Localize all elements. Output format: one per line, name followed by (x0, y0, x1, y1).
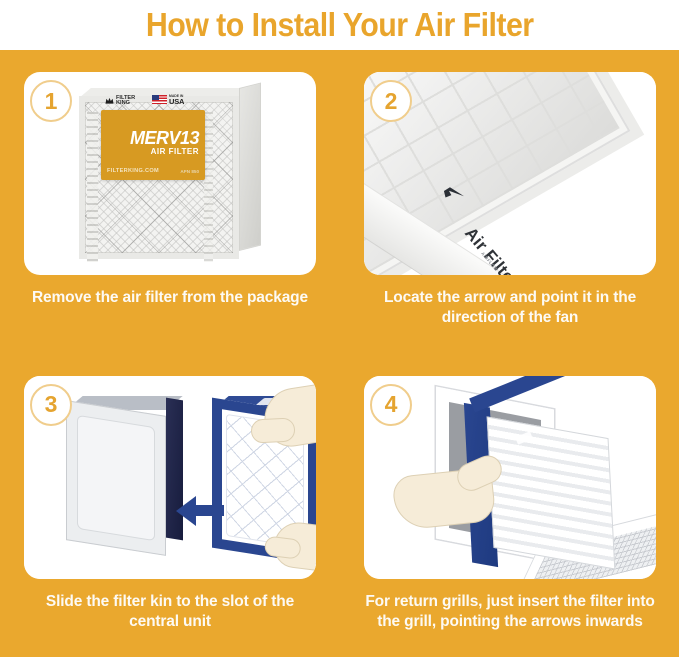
air-filter-product: FILTER KING MADE IN USA ME (79, 88, 261, 260)
step-badge-3: 3 (30, 384, 72, 426)
central-unit-slot (66, 394, 184, 544)
brand-line-2: KING (116, 101, 135, 107)
filter-king-logo: FILTER KING (105, 96, 135, 108)
air-filter-subtitle: AIR FILTER (101, 147, 199, 156)
step-3-caption: Slide the filter kin to the slot of the … (20, 592, 320, 632)
page-title: How to Install Your Air Filter (146, 6, 534, 44)
merv-label: MERV13 AIR FILTER FILTERKING.COM APN 850 (101, 110, 205, 180)
step-1-caption: Remove the air filter from the package (20, 288, 320, 308)
steps-grid: FILTER KING MADE IN USA ME (0, 50, 679, 657)
brand-text: FILTER KING (116, 96, 135, 108)
apn-text: APN 850 (180, 169, 199, 174)
filter-ribs-left (87, 112, 98, 262)
step-badge-1: 1 (30, 80, 72, 122)
step-badge-2: 2 (370, 80, 412, 122)
usa-label: USA (169, 98, 184, 106)
hand-upper (260, 379, 316, 450)
blue-left-arrow-icon (174, 494, 226, 533)
made-in-usa-badge: MADE IN USA (152, 95, 184, 106)
unit-inner-panel (77, 414, 155, 540)
crown-icon (105, 97, 114, 105)
hand-inserting-filter (391, 466, 496, 530)
step-panel-1: FILTER KING MADE IN USA ME (0, 50, 340, 354)
filter-ribs-right (204, 112, 213, 262)
made-in-usa-text: MADE IN USA (169, 95, 184, 106)
merv-rating-text: MERV13 (101, 128, 199, 149)
website-text: FILTERKING.COM (107, 168, 159, 174)
step-4-image-card: 4 (364, 376, 656, 579)
filter-side-edge (239, 82, 261, 250)
us-flag-icon (152, 95, 167, 104)
step-2-image-card: Air Filter AIRFLOW 2 (364, 72, 656, 275)
step-1-image-card: FILTER KING MADE IN USA ME (24, 72, 316, 275)
header-band: How to Install Your Air Filter (0, 0, 679, 50)
step-2-caption: Locate the arrow and point it in the dir… (360, 288, 660, 328)
step-panel-4: 4 For return grills, just insert the fil… (340, 354, 679, 657)
unit-front-panel (66, 400, 166, 556)
step-3-image-card: 3 (24, 376, 316, 579)
louvered-grill-door (487, 416, 616, 569)
infographic-root: How to Install Your Air Filter (0, 0, 679, 657)
step-4-caption: For return grills, just insert the filte… (360, 592, 660, 632)
step-panel-2: Air Filter AIRFLOW 2 Locate the arrow an… (340, 50, 679, 354)
step-panel-3: 3 Slide the filter kin to the slot of th… (0, 354, 340, 657)
step-badge-4: 4 (370, 384, 412, 426)
